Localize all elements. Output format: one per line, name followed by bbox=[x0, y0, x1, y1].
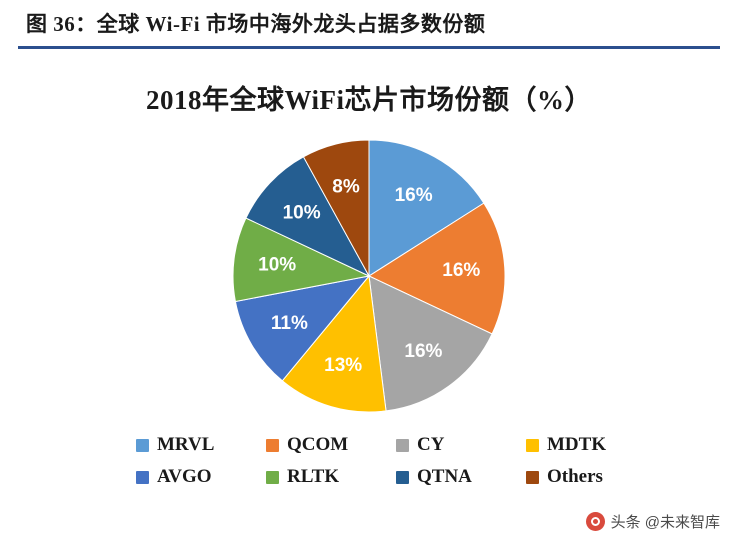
legend-item-others[interactable]: Others bbox=[526, 466, 656, 488]
legend-item-qtna[interactable]: QTNA bbox=[396, 466, 526, 488]
legend-label: AVGO bbox=[157, 466, 212, 488]
legend-item-mrvl[interactable]: MRVL bbox=[136, 434, 266, 456]
legend-swatch-icon bbox=[526, 471, 539, 484]
legend-label: QTNA bbox=[417, 466, 472, 488]
legend-item-cy[interactable]: CY bbox=[396, 434, 526, 456]
figure-caption-text: 图 36：全球 Wi-Fi 市场中海外龙头占据多数份额 bbox=[26, 8, 485, 38]
legend-swatch-icon bbox=[396, 471, 409, 484]
legend-swatch-icon bbox=[266, 471, 279, 484]
watermark-text: 头条 @未来智库 bbox=[611, 511, 720, 532]
legend-item-mdtk[interactable]: MDTK bbox=[526, 434, 656, 456]
legend-label: RLTK bbox=[287, 466, 339, 488]
pie-slice-label: 13% bbox=[324, 355, 362, 376]
watermark: 头条 @未来智库 bbox=[586, 511, 720, 532]
legend-label: MRVL bbox=[157, 434, 214, 456]
legend-swatch-icon bbox=[136, 439, 149, 452]
circle-logo-icon bbox=[586, 512, 605, 531]
legend-label: CY bbox=[417, 434, 444, 456]
pie-slice-label: 10% bbox=[258, 254, 296, 275]
legend-label: QCOM bbox=[287, 434, 348, 456]
legend-item-avgo[interactable]: AVGO bbox=[136, 466, 266, 488]
caption-divider bbox=[18, 46, 720, 49]
chart-legend: MRVL QCOM CY MDTK AVGO RLTK QTNA Others bbox=[136, 434, 656, 488]
pie-slice-label: 16% bbox=[442, 260, 480, 281]
legend-swatch-icon bbox=[526, 439, 539, 452]
legend-swatch-icon bbox=[266, 439, 279, 452]
chart-title: 2018年全球WiFi芯片市场份额（%） bbox=[18, 78, 720, 117]
figure-caption: 图 36：全球 Wi-Fi 市场中海外龙头占据多数份额 bbox=[0, 0, 738, 46]
pie-slice-label: 16% bbox=[395, 185, 433, 206]
pie-chart-svg: 16%16%16%13%11%10%10%8% bbox=[159, 130, 579, 422]
pie-slice-label: 8% bbox=[332, 176, 360, 197]
legend-label: MDTK bbox=[547, 434, 606, 456]
legend-swatch-icon bbox=[396, 439, 409, 452]
chart-card: 2018年全球WiFi芯片市场份额（%） 16%16%16%13%11%10%1… bbox=[18, 52, 720, 504]
pie-chart: 16%16%16%13%11%10%10%8% bbox=[18, 130, 720, 422]
pie-slice-label: 16% bbox=[404, 341, 442, 362]
legend-item-rltk[interactable]: RLTK bbox=[266, 466, 396, 488]
legend-item-qcom[interactable]: QCOM bbox=[266, 434, 396, 456]
legend-label: Others bbox=[547, 466, 603, 488]
pie-slice-label: 10% bbox=[283, 203, 321, 224]
legend-swatch-icon bbox=[136, 471, 149, 484]
pie-slice-label: 11% bbox=[271, 313, 308, 334]
